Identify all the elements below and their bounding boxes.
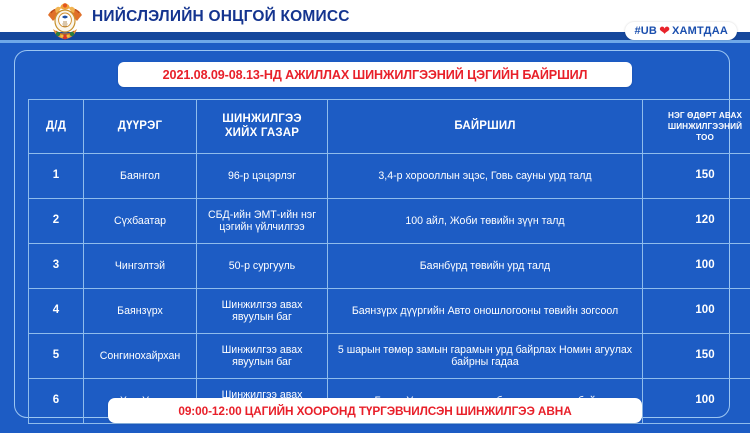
table-row: 1 Баянгол 96-р цэцэрлэг 3,4-р хорооллын … — [29, 154, 750, 199]
table-row: 2 Сүхбаатар СБД-ийн ЭМТ-ийн нэг цэгийн ү… — [29, 199, 750, 244]
poster-canvas: НИЙСЛЭЛИЙН ОНЦГОЙ КОМИСС #UB ❤ ХАМТДАА 2… — [0, 0, 750, 433]
footer-banner: 09:00-12:00 ЦАГИЙН ХООРОНД ТҮРГЭВЧИЛСЭН … — [108, 398, 642, 423]
cell-location: 3,4-р хорооллын эцэс, Говь сауны урд тал… — [328, 154, 643, 199]
column-header-district: ДҮҮРЭГ — [84, 100, 197, 154]
cell-district: Сүхбаатар — [84, 199, 197, 244]
hashtag-badge: #UB ❤ ХАМТДАА — [625, 22, 737, 40]
cell-location: 5 шарын төмөр замын гарамын урд байрлах … — [328, 334, 643, 379]
cell-no: 6 — [29, 379, 84, 424]
emblem-coat-of-arms-icon — [44, 1, 86, 43]
heart-icon: ❤ — [659, 24, 670, 37]
column-header-daily-count-line1: НЭГ ӨДӨРТ АВАХ — [647, 110, 750, 121]
hashtag-suffix-label: ХАМТДАА — [672, 25, 728, 37]
table-body: 1 Баянгол 96-р цэцэрлэг 3,4-р хорооллын … — [29, 154, 750, 424]
column-header-test-place: ШИНЖИЛГЭЭ ХИЙХ ГАЗАР — [197, 100, 328, 154]
column-header-daily-count-line3: ТОО — [647, 132, 750, 143]
column-header-location: БАЙРШИЛ — [328, 100, 643, 154]
cell-location: Баянзүрх дүүргийн Авто оношлогооны төвий… — [328, 289, 643, 334]
column-header-test-place-line2: ХИЙХ ГАЗАР — [201, 127, 323, 141]
cell-district: Баянгол — [84, 154, 197, 199]
cell-place: Шинжилгээ авах явуулын баг — [197, 289, 328, 334]
cell-place: 96-р цэцэрлэг — [197, 154, 328, 199]
cell-no: 5 — [29, 334, 84, 379]
cell-no: 4 — [29, 289, 84, 334]
organization-title: НИЙСЛЭЛИЙН ОНЦГОЙ КОМИСС — [92, 8, 350, 26]
cell-count: 100 — [643, 244, 750, 289]
title-banner-text: 2021.08.09-08.13-НД АЖИЛЛАХ ШИНЖИЛГЭЭНИЙ… — [163, 68, 588, 82]
cell-place: Шинжилгээ авах явуулын баг — [197, 334, 328, 379]
column-header-test-place-line1: ШИНЖИЛГЭЭ — [201, 113, 323, 127]
cell-place: СБД-ийн ЭМТ-ийн нэг цэгийн үйлчилгээ — [197, 199, 328, 244]
cell-place: 50-р сургууль — [197, 244, 328, 289]
cell-count: 100 — [643, 289, 750, 334]
cell-no: 1 — [29, 154, 84, 199]
cell-count: 150 — [643, 334, 750, 379]
cell-count: 120 — [643, 199, 750, 244]
header-light-band — [0, 40, 750, 43]
table-row: 3 Чингэлтэй 50-р сургууль Баянбүрд төвий… — [29, 244, 750, 289]
table-row: 5 Сонгинохайрхан Шинжилгээ авах явуулын … — [29, 334, 750, 379]
table-row: 4 Баянзүрх Шинжилгээ авах явуулын баг Ба… — [29, 289, 750, 334]
schedule-table: Д/Д ДҮҮРЭГ ШИНЖИЛГЭЭ ХИЙХ ГАЗАР БАЙРШИЛ … — [28, 99, 750, 424]
footer-banner-text: 09:00-12:00 ЦАГИЙН ХООРОНД ТҮРГЭВЧИЛСЭН … — [178, 404, 571, 418]
title-banner: 2021.08.09-08.13-НД АЖИЛЛАХ ШИНЖИЛГЭЭНИЙ… — [118, 62, 632, 87]
cell-count: 100 — [643, 379, 750, 424]
cell-no: 2 — [29, 199, 84, 244]
column-header-daily-count: НЭГ ӨДӨРТ АВАХ ШИНЖИЛГЭЭНИЙ ТОО — [643, 100, 750, 154]
cell-count: 150 — [643, 154, 750, 199]
table-head: Д/Д ДҮҮРЭГ ШИНЖИЛГЭЭ ХИЙХ ГАЗАР БАЙРШИЛ … — [29, 100, 750, 154]
cell-district: Чингэлтэй — [84, 244, 197, 289]
hashtag-prefix-label: #UB — [634, 25, 657, 37]
cell-location: 100 айл, Жоби төвийн зүүн талд — [328, 199, 643, 244]
table-header-row: Д/Д ДҮҮРЭГ ШИНЖИЛГЭЭ ХИЙХ ГАЗАР БАЙРШИЛ … — [29, 100, 750, 154]
cell-district: Баянзүрх — [84, 289, 197, 334]
cell-no: 3 — [29, 244, 84, 289]
column-header-daily-count-line2: ШИНЖИЛГЭЭНИЙ — [647, 121, 750, 132]
cell-district: Сонгинохайрхан — [84, 334, 197, 379]
column-header-no: Д/Д — [29, 100, 84, 154]
cell-location: Баянбүрд төвийн урд талд — [328, 244, 643, 289]
